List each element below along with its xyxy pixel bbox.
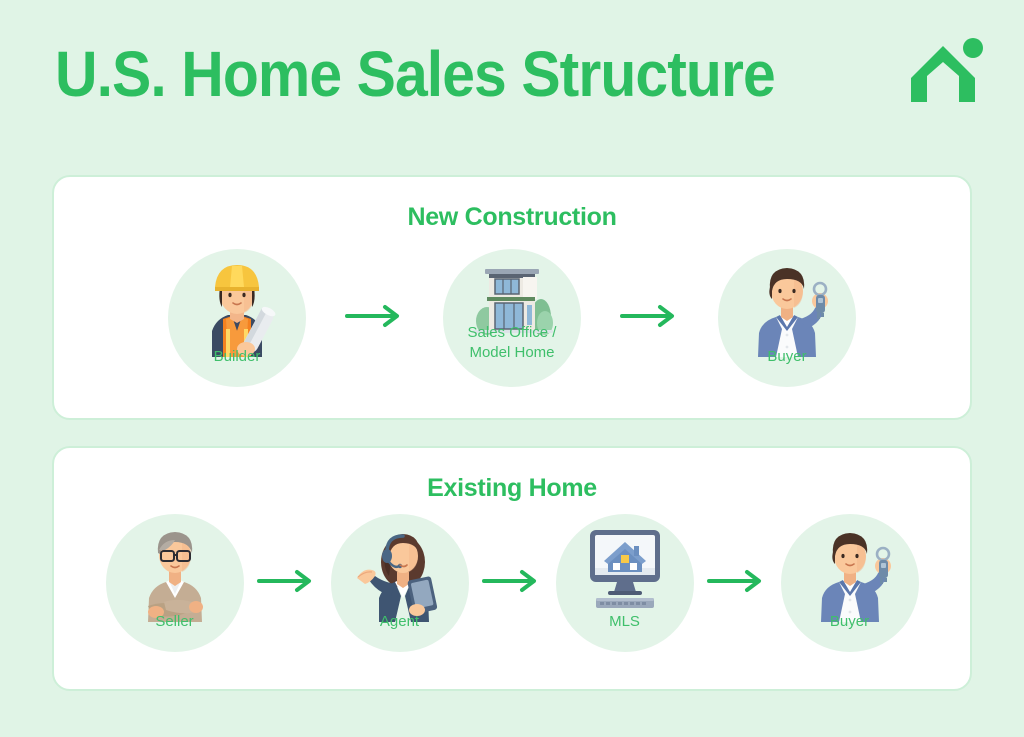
panel-new-construction: New Construction	[52, 175, 972, 420]
flow-existing-home: Seller	[54, 514, 970, 679]
node-label-builder: Builder	[162, 347, 312, 367]
node-mls[interactable]: MLS	[555, 514, 695, 674]
node-label-seller: Seller	[100, 612, 250, 632]
arrow-right-icon	[307, 249, 442, 409]
arrow-right-icon	[470, 514, 555, 674]
flow-new-construction: Builder	[54, 249, 970, 414]
node-buyer[interactable]: Buyer	[780, 514, 920, 674]
house-with-dot-icon	[903, 34, 987, 106]
builder-avatar-icon	[182, 257, 292, 357]
arrow-right-icon	[582, 249, 717, 409]
node-model-home[interactable]: Sales Office / Model Home	[442, 249, 582, 409]
panel-existing-home: Existing Home	[52, 446, 972, 691]
buyer-avatar-icon	[732, 257, 842, 357]
node-label-buyer: Buyer	[775, 612, 925, 632]
seller-avatar-icon	[120, 522, 230, 622]
agent-avatar-icon	[345, 522, 455, 622]
panel-title-new-construction: New Construction	[54, 203, 970, 232]
node-seller[interactable]: Seller	[105, 514, 245, 674]
node-builder[interactable]: Builder	[167, 249, 307, 409]
buyer-avatar-icon	[795, 522, 905, 622]
node-label-agent: Agent	[325, 612, 475, 632]
node-agent[interactable]: Agent	[330, 514, 470, 674]
node-buyer[interactable]: Buyer	[717, 249, 857, 409]
panel-title-existing-home: Existing Home	[54, 474, 970, 503]
arrow-right-icon	[695, 514, 780, 674]
node-label-model-home: Sales Office / Model Home	[437, 323, 587, 363]
node-label-mls: MLS	[550, 612, 700, 632]
node-label-buyer: Buyer	[712, 347, 862, 367]
node-circle	[443, 249, 581, 387]
page-title: U.S. Home Sales Structure	[55, 42, 775, 106]
arrow-right-icon	[245, 514, 330, 674]
page-header: U.S. Home Sales Structure	[0, 0, 1024, 160]
